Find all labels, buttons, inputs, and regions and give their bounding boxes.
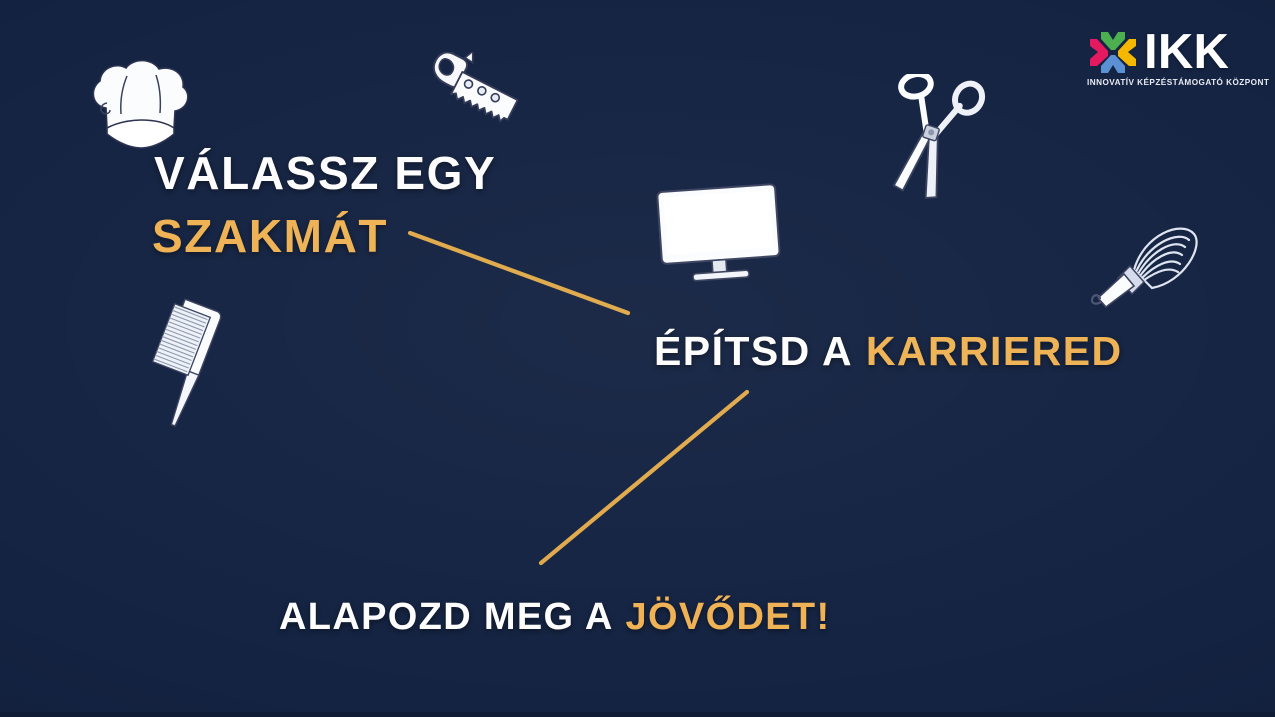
ikk-tagline: INNOVATÍV KÉPZÉSTÁMOGATÓ KÖZPONT: [1087, 78, 1252, 87]
headline-space-2: [614, 596, 626, 638]
comb-icon: [132, 296, 252, 434]
whisk-icon: [1086, 214, 1204, 310]
slide-canvas: VÁLASSZ EGY SZAKMÁT ÉPÍTSD A KARRIERED A…: [0, 0, 1275, 717]
headline-alapozd-meg-a: ALAPOZD MEG A: [279, 596, 614, 638]
headline-space: [853, 328, 866, 374]
connector-szakmat-to-karriered: [400, 220, 640, 325]
scissors-icon: [872, 74, 987, 204]
headline-alapozd-meg-a-jovodet: ALAPOZD MEG A JÖVŐDET!: [279, 596, 830, 639]
headline-valassz-egy: VÁLASSZ EGY: [154, 146, 496, 200]
connector-karriered-to-jovodet: [530, 380, 760, 575]
headline-epitsd-a-karriered: ÉPÍTSD A KARRIERED: [654, 328, 1123, 375]
ikk-logo: IKK INNOVATÍV KÉPZÉSTÁMOGATÓ KÖZPONT: [1086, 26, 1252, 94]
ikk-x-mark-icon: [1086, 28, 1140, 78]
headline-karriered: KARRIERED: [866, 328, 1123, 374]
headline-szakmat: SZAKMÁT: [152, 209, 388, 263]
monitor-icon: [652, 182, 787, 282]
bottom-band: [0, 712, 1275, 717]
headline-jovodet: JÖVŐDET!: [626, 596, 831, 638]
headline-epitsd-a: ÉPÍTSD A: [654, 328, 853, 374]
ikk-wordmark: IKK: [1144, 26, 1229, 78]
